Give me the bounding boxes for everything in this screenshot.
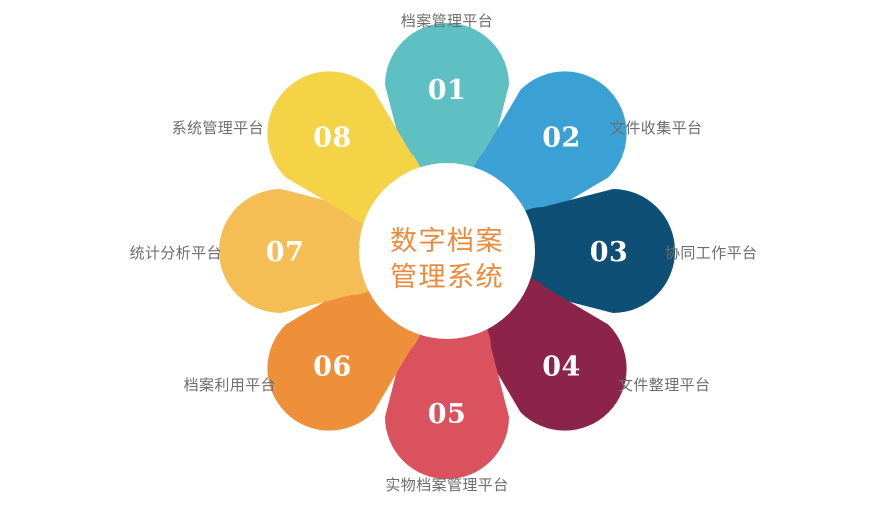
petal-label-01: 档案管理平台 <box>401 14 493 29</box>
petal-label-03: 协同工作平台 <box>665 246 757 261</box>
petal-number-01: 01 <box>428 75 467 106</box>
petal-number-04: 04 <box>542 352 581 383</box>
petal-label-02: 文件收集平台 <box>610 121 702 136</box>
petal-label-08: 系统管理平台 <box>172 121 264 136</box>
petal-number-05: 05 <box>428 399 467 430</box>
petal-number-03: 03 <box>590 237 629 268</box>
petal-label-06: 档案利用平台 <box>184 378 276 393</box>
center-title-line1: 数字档案 <box>390 226 504 257</box>
petal-number-08: 08 <box>313 122 352 153</box>
petal-label-07: 统计分析平台 <box>130 246 222 261</box>
petal-label-05: 实物档案管理平台 <box>385 478 508 493</box>
center-hub: 数字档案 管理系统 <box>359 163 535 339</box>
petal-number-07: 07 <box>266 237 305 268</box>
infographic-canvas: 0102030405060708 数字档案 管理系统 档案管理平台 文件收集平台… <box>0 0 894 506</box>
petal-number-02: 02 <box>542 122 581 153</box>
petal-label-04: 文件整理平台 <box>618 378 710 393</box>
petal-number-06: 06 <box>313 352 352 383</box>
center-title-line2: 管理系统 <box>390 262 504 293</box>
